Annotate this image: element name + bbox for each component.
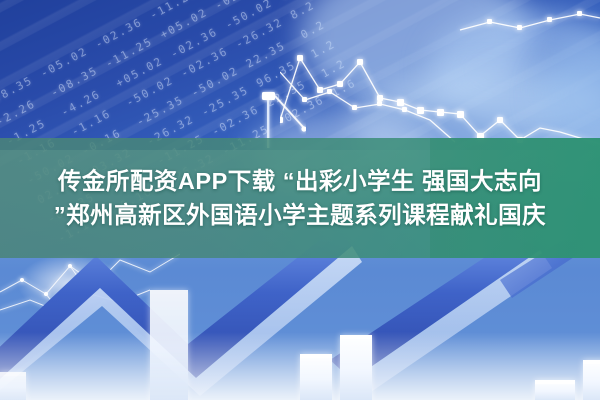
headline-line-1: 传金所配资APP下载 “出彩小学生 强国大志向 [58,165,542,197]
bar-column [150,290,188,400]
bar-column [535,380,575,400]
banner-image: -08.35-05.02-02.36-11.25+45.0221.65 -2.2… [0,0,600,400]
bar-column [340,335,372,400]
headline-block: 传金所配资APP下载 “出彩小学生 强国大志向 ”郑州高新区外国语小学主题系列课… [0,138,600,258]
glowing-network-chart [280,0,600,150]
bar-column [0,372,26,400]
bar-column [300,354,332,400]
bar-column [583,360,600,400]
headline-line-2: ”郑州高新区外国语小学主题系列课程献礼国庆 [54,199,546,231]
